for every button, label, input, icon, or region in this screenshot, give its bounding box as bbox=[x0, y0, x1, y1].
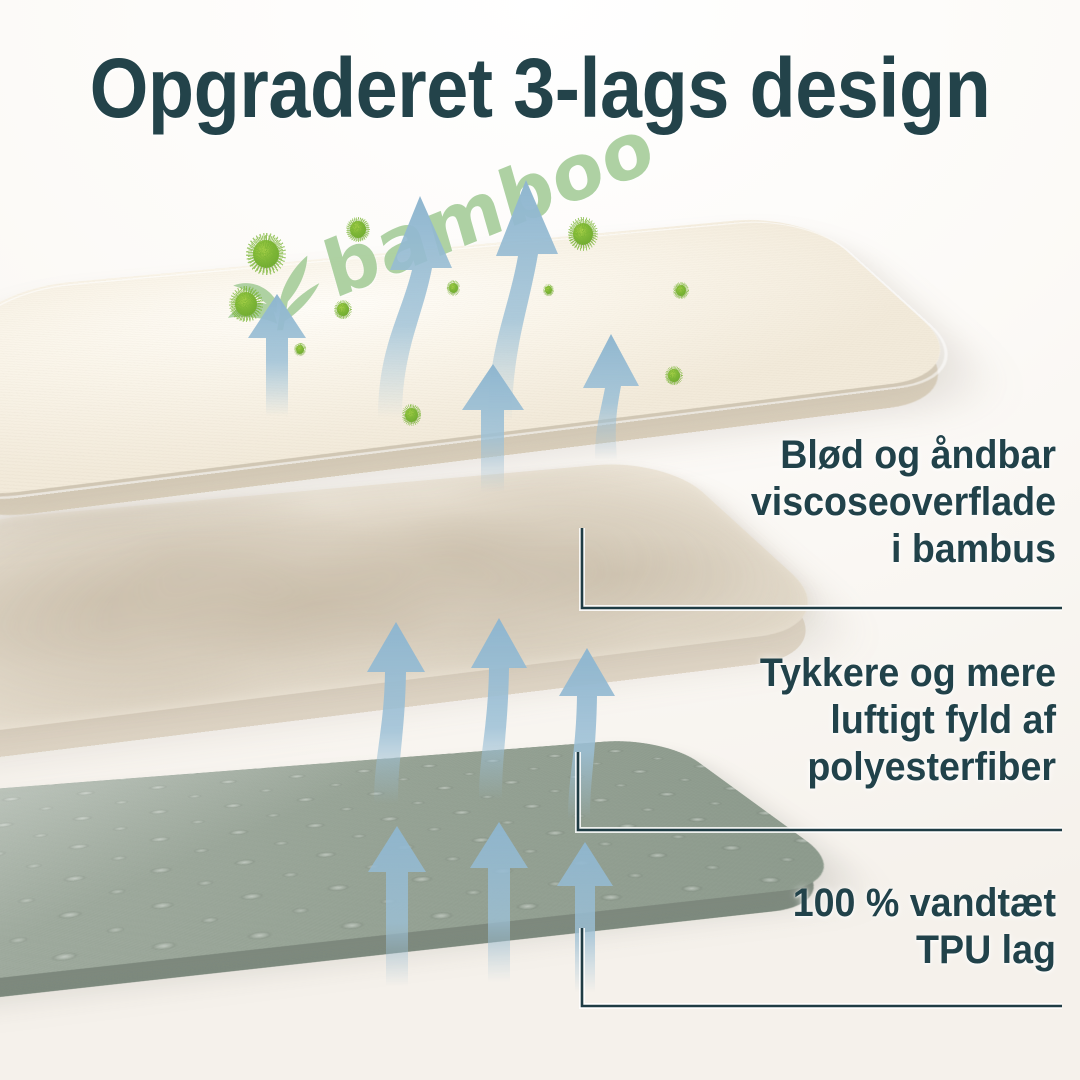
page-title: Opgraderet 3-lags design bbox=[54, 46, 1026, 130]
moss-speck-icon bbox=[235, 292, 257, 316]
moss-speck-icon bbox=[296, 345, 304, 354]
moss-speck-icon bbox=[337, 303, 349, 316]
infographic-canvas: Opgraderet 3-lags design bbox=[0, 0, 1080, 1080]
callout-tpu-text: 100 % vandtæt TPU lag bbox=[530, 880, 1056, 974]
moss-speck-icon bbox=[253, 240, 279, 268]
moss-speck-icon bbox=[350, 221, 366, 238]
callout-fiber-text: Tykkere og mere luftigt fyld af polyeste… bbox=[530, 650, 1056, 792]
moss-speck-icon bbox=[545, 286, 552, 294]
moss-speck-icon bbox=[573, 223, 593, 245]
moss-speck-icon bbox=[668, 369, 680, 382]
moss-speck-icon bbox=[676, 285, 686, 296]
moss-speck-icon bbox=[449, 283, 458, 293]
moss-speck-icon bbox=[405, 408, 418, 422]
callout-bamboo-text: Blød og åndbar viscoseoverflade i bambus bbox=[530, 432, 1056, 574]
